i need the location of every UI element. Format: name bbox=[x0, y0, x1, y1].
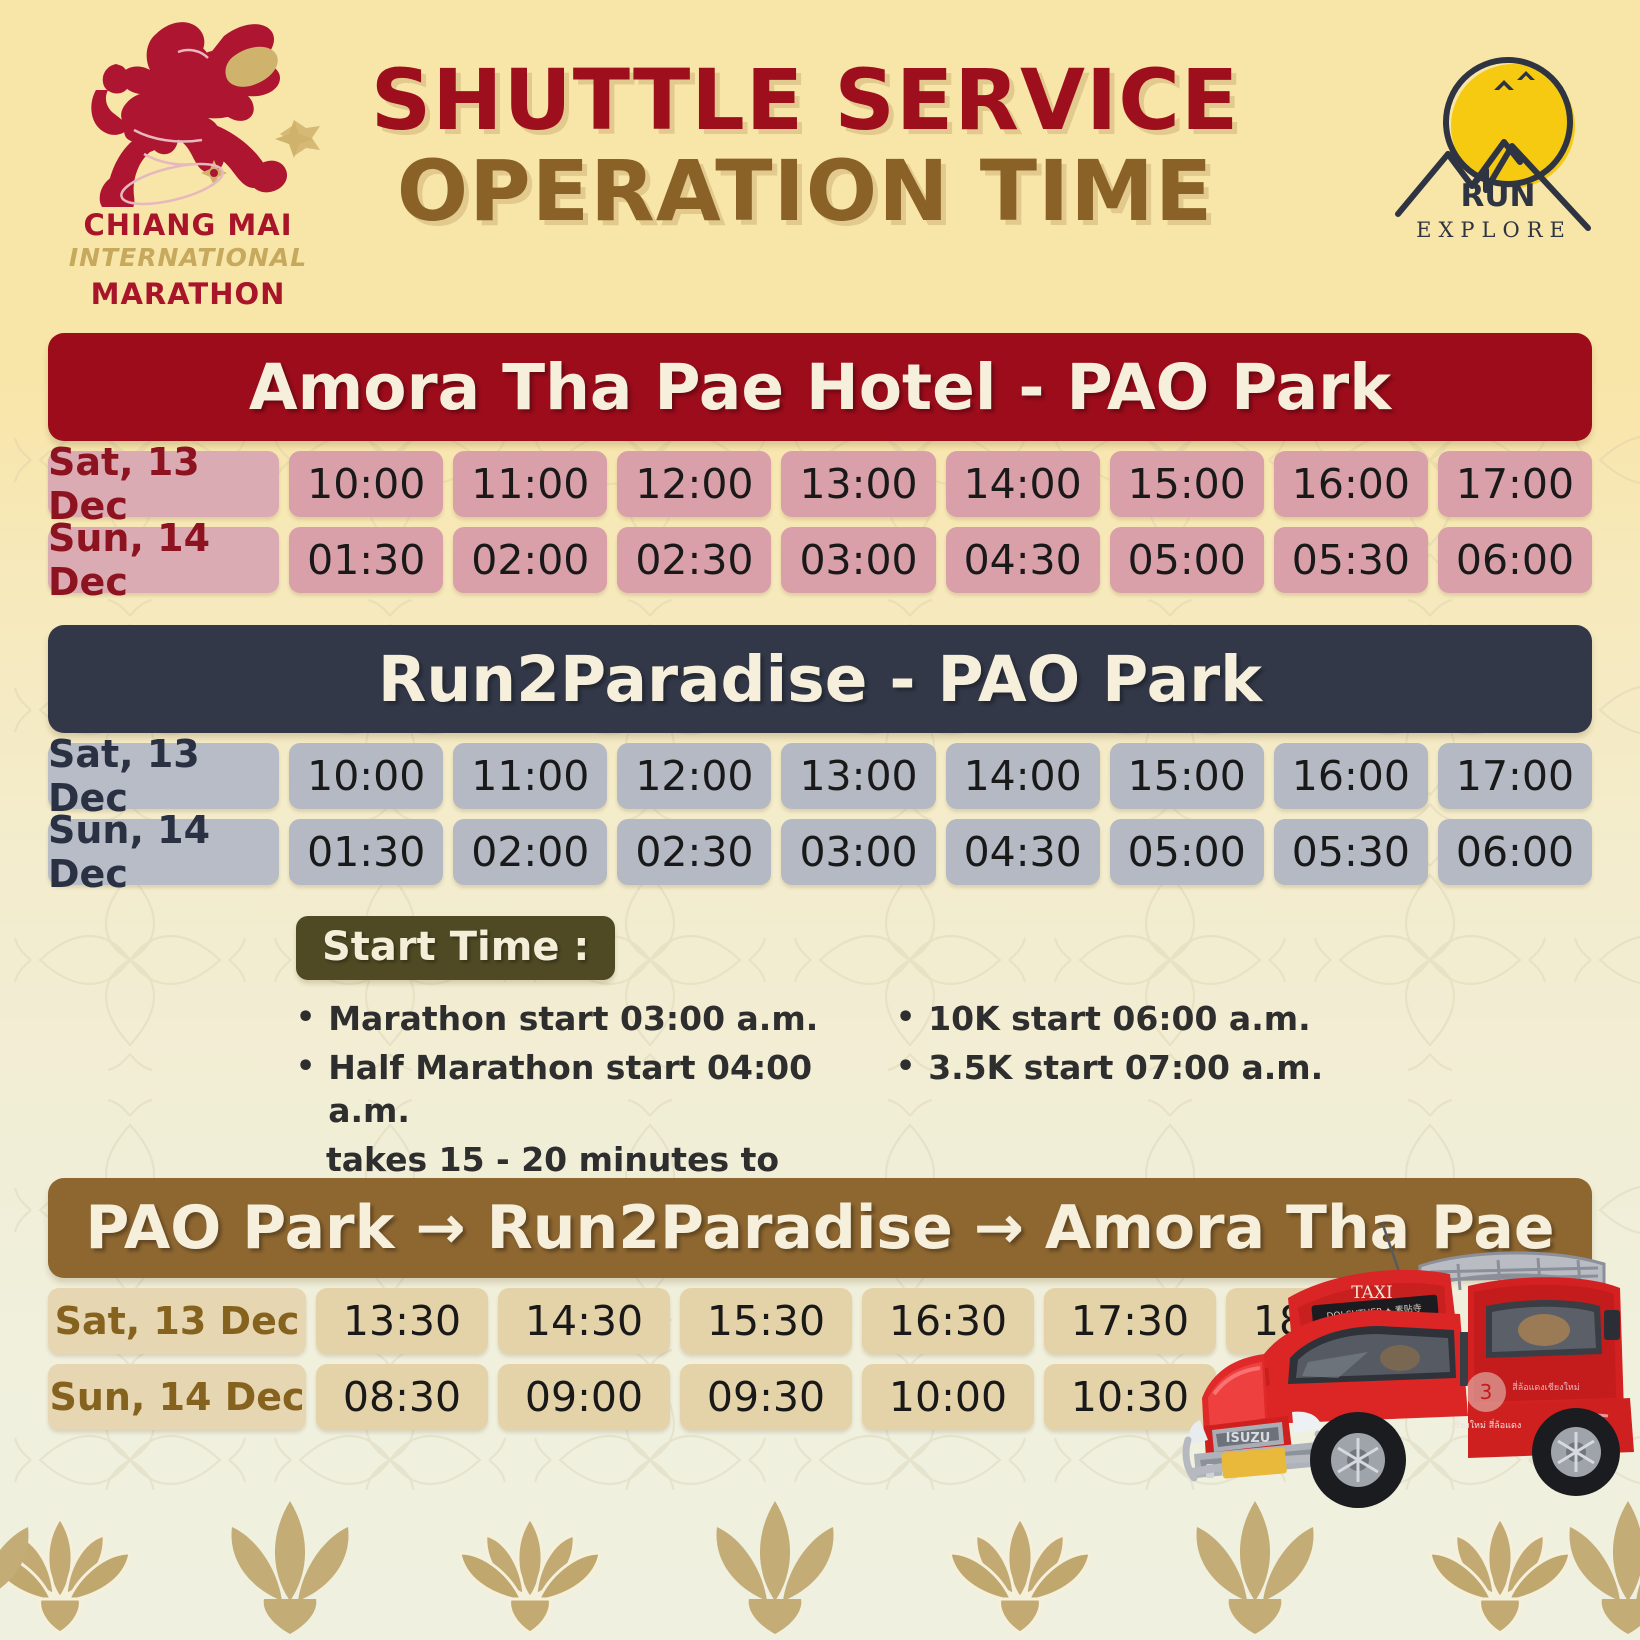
time-chip[interactable]: 13:00 bbox=[781, 743, 935, 809]
time-chip[interactable]: 02:00 bbox=[453, 819, 607, 885]
table-row: Sat, 13 Dec 10:00 11:00 12:00 13:00 14:0… bbox=[48, 743, 1592, 809]
run-explore-word-explore: EXPLORE bbox=[1416, 218, 1572, 242]
day-label: Sun, 14 Dec bbox=[48, 819, 279, 885]
time-chip[interactable]: 02:00 bbox=[453, 527, 607, 593]
day-label: Sat, 13 Dec bbox=[48, 1288, 306, 1354]
bullet-icon: • bbox=[896, 998, 915, 1039]
list-item-label: 10K start 06:00 a.m. bbox=[928, 998, 1310, 1041]
time-chip[interactable]: 03:00 bbox=[781, 819, 935, 885]
schedule-section-amora-pao: Amora Tha Pae Hotel - PAO Park Sat, 13 D… bbox=[48, 333, 1592, 593]
section-title: Amora Tha Pae Hotel - PAO Park bbox=[249, 351, 1391, 424]
logo-line-2: INTERNATIONAL bbox=[38, 243, 338, 272]
time-chip[interactable]: 04:30 bbox=[946, 819, 1100, 885]
time-chip[interactable]: 16:00 bbox=[1274, 451, 1428, 517]
bullet-icon: • bbox=[296, 998, 315, 1039]
time-chip[interactable]: 10:00 bbox=[289, 451, 443, 517]
red-songthaew-taxi-image: TAXI DOI SUTHEP ✦ 素贴寺 ISUZU bbox=[1168, 1202, 1640, 1532]
list-item-label: Half Marathon start 04:00 a.m. bbox=[328, 1047, 896, 1133]
chiang-mai-marathon-logo: CHIANG MAI INTERNATIONAL MARATHON bbox=[38, 12, 338, 297]
schedule-section-run2paradise-pao: Run2Paradise - PAO Park Sat, 13 Dec 10:0… bbox=[48, 625, 1592, 885]
page-title: SHUTTLE SERVICE OPERATION TIME bbox=[340, 58, 1270, 237]
time-chip[interactable]: 16:00 bbox=[1274, 743, 1428, 809]
list-item: • Half Marathon start 04:00 a.m. bbox=[296, 1047, 896, 1133]
poster-header: CHIANG MAI INTERNATIONAL MARATHON SHUTTL… bbox=[0, 0, 1640, 310]
list-item-label: Marathon start 03:00 a.m. bbox=[328, 998, 818, 1041]
time-chip[interactable]: 13:30 bbox=[316, 1288, 488, 1354]
time-chip[interactable]: 13:00 bbox=[781, 451, 935, 517]
list-item: • Marathon start 03:00 a.m. bbox=[296, 998, 896, 1041]
bullet-icon: • bbox=[296, 1047, 315, 1088]
title-line-2: OPERATION TIME bbox=[340, 146, 1270, 237]
run-explore-word-run: RUN bbox=[1461, 178, 1536, 214]
time-chip[interactable]: 17:00 bbox=[1438, 451, 1592, 517]
time-chip[interactable]: 11:00 bbox=[453, 451, 607, 517]
title-line-1: SHUTTLE SERVICE bbox=[340, 58, 1270, 142]
isuzu-badge: ISUZU bbox=[1226, 1431, 1271, 1446]
time-chip[interactable]: 09:30 bbox=[680, 1364, 852, 1430]
day-label: Sun, 14 Dec bbox=[48, 1364, 306, 1430]
time-chip[interactable]: 05:30 bbox=[1274, 527, 1428, 593]
list-item-label: 3.5K start 07:00 a.m. bbox=[928, 1047, 1323, 1090]
time-chip[interactable]: 12:00 bbox=[617, 743, 771, 809]
table-row: Sun, 14 Dec 01:30 02:00 02:30 03:00 04:3… bbox=[48, 527, 1592, 593]
time-chip[interactable]: 02:30 bbox=[617, 819, 771, 885]
section-header-bar: Amora Tha Pae Hotel - PAO Park bbox=[48, 333, 1592, 441]
start-time-heading: Start Time : bbox=[322, 924, 589, 970]
start-time-heading-pill: Start Time : bbox=[296, 916, 615, 980]
time-chip[interactable]: 05:30 bbox=[1274, 819, 1428, 885]
time-chip[interactable]: 06:00 bbox=[1438, 527, 1592, 593]
section-title: Run2Paradise - PAO Park bbox=[378, 643, 1262, 716]
time-chip[interactable]: 16:30 bbox=[862, 1288, 1034, 1354]
section-header-bar: Run2Paradise - PAO Park bbox=[48, 625, 1592, 733]
time-chip[interactable]: 05:00 bbox=[1110, 819, 1264, 885]
time-chip[interactable]: 06:00 bbox=[1438, 819, 1592, 885]
run-explore-logo: RUN EXPLORE bbox=[1380, 38, 1610, 268]
time-chip[interactable]: 14:00 bbox=[946, 743, 1100, 809]
list-item: • 10K start 06:00 a.m. bbox=[896, 998, 1366, 1041]
time-chip[interactable]: 08:30 bbox=[316, 1364, 488, 1430]
day-label: Sat, 13 Dec bbox=[48, 743, 279, 809]
bullet-icon: • bbox=[896, 1047, 915, 1088]
logo-line-3: MARATHON bbox=[38, 277, 338, 311]
marathon-runner-icon bbox=[38, 12, 338, 207]
time-chip[interactable]: 09:00 bbox=[498, 1364, 670, 1430]
time-chip[interactable]: 15:30 bbox=[680, 1288, 852, 1354]
time-chip[interactable]: 15:00 bbox=[1110, 743, 1264, 809]
logo-line-1: CHIANG MAI bbox=[38, 208, 338, 242]
time-chip[interactable]: 12:00 bbox=[617, 451, 771, 517]
time-chip[interactable]: 11:00 bbox=[453, 743, 607, 809]
time-chip[interactable]: 03:00 bbox=[781, 527, 935, 593]
list-item: • 3.5K start 07:00 a.m. bbox=[896, 1047, 1366, 1090]
day-label: Sun, 14 Dec bbox=[48, 527, 279, 593]
time-chip[interactable]: 05:00 bbox=[1110, 527, 1264, 593]
time-chip[interactable]: 10:00 bbox=[289, 743, 443, 809]
time-chip[interactable]: 15:00 bbox=[1110, 451, 1264, 517]
door-decal: 3 bbox=[1480, 1380, 1493, 1404]
time-chip[interactable]: 14:00 bbox=[946, 451, 1100, 517]
time-chip[interactable]: 14:30 bbox=[498, 1288, 670, 1354]
time-chip[interactable]: 17:00 bbox=[1438, 743, 1592, 809]
table-row: Sat, 13 Dec 10:00 11:00 12:00 13:00 14:0… bbox=[48, 451, 1592, 517]
time-chip[interactable]: 04:30 bbox=[946, 527, 1100, 593]
table-row: Sun, 14 Dec 01:30 02:00 02:30 03:00 04:3… bbox=[48, 819, 1592, 885]
time-chip[interactable]: 01:30 bbox=[289, 819, 443, 885]
time-chip[interactable]: 01:30 bbox=[289, 527, 443, 593]
day-label: Sat, 13 Dec bbox=[48, 451, 279, 517]
time-chip[interactable]: 10:00 bbox=[862, 1364, 1034, 1430]
time-chip[interactable]: 02:30 bbox=[617, 527, 771, 593]
